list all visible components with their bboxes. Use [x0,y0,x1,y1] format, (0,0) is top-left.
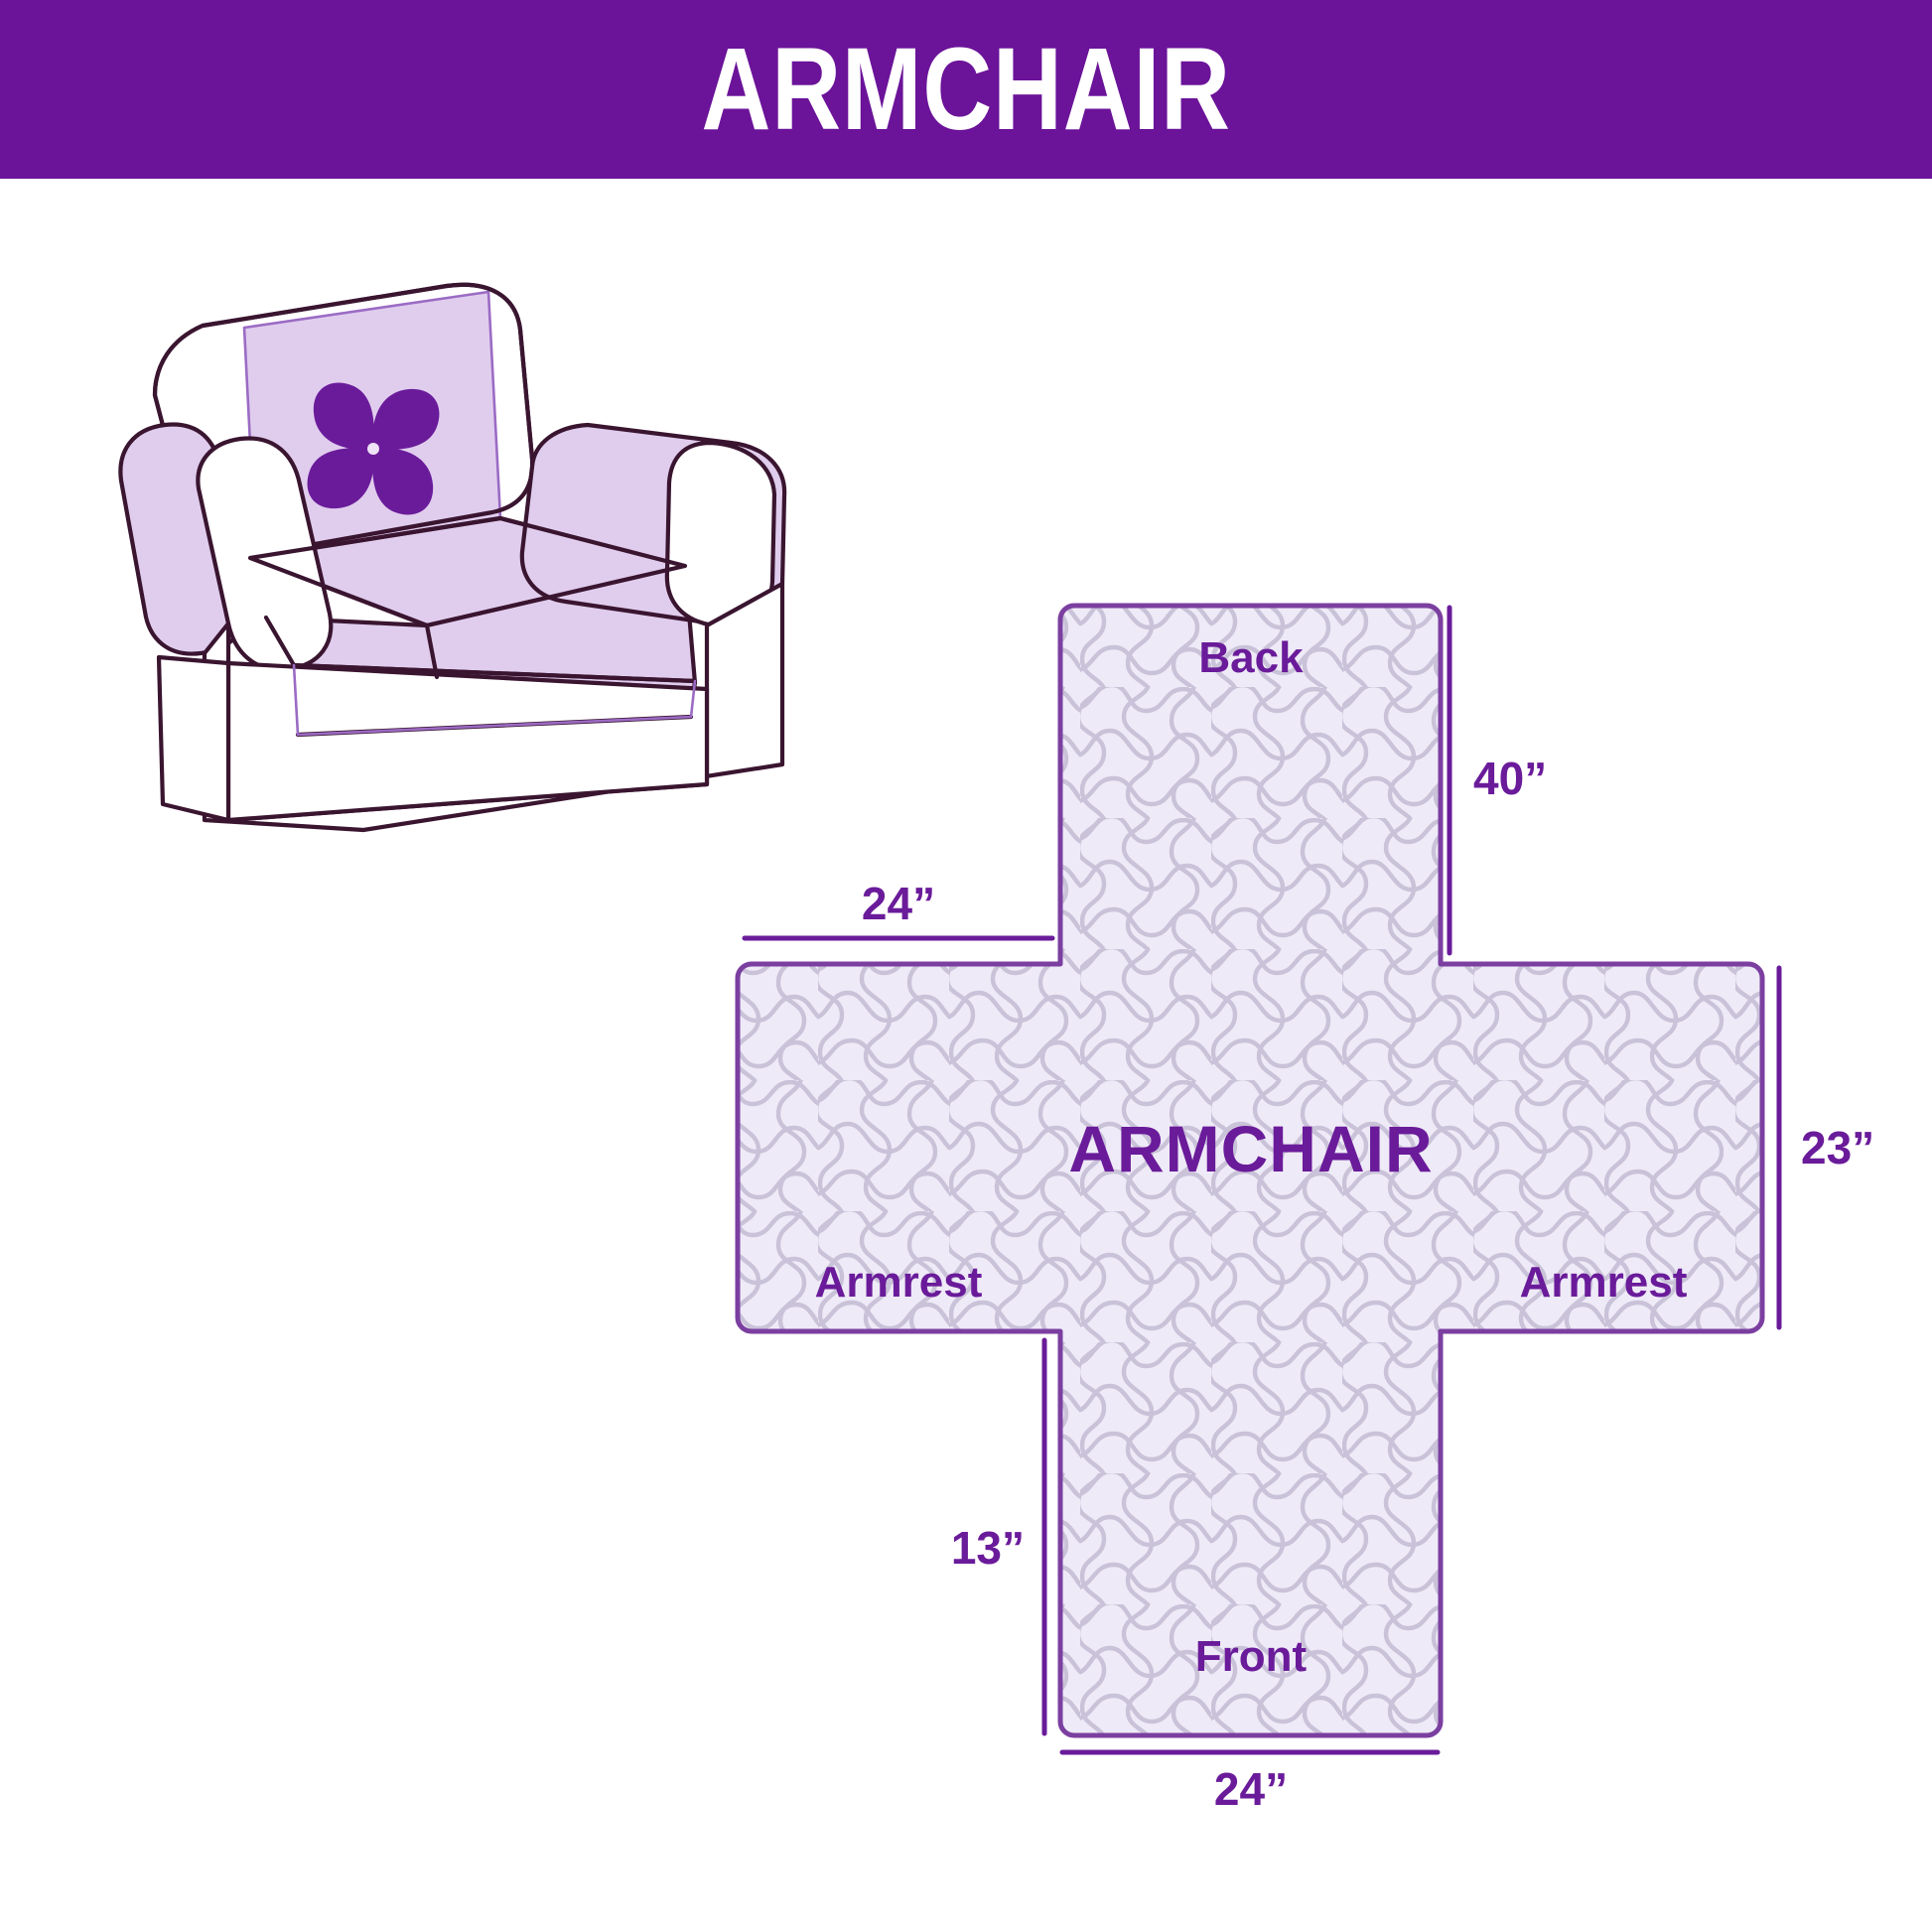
header-banner: ARMCHAIR [0,0,1932,179]
dimension-label-back-height: 40” [1473,753,1547,804]
panel-label-armrest-left: Armrest [815,1258,983,1307]
panel-label-armrest-right: Armrest [1520,1258,1688,1307]
page-root: ARMCHAIR [0,0,1932,1932]
page-title: ARMCHAIR [701,31,1230,148]
dimension-front-height: 13” [951,1340,1044,1733]
dimension-front-width: 24” [1062,1752,1438,1815]
slipcover-pattern-diagram: Back ARMCHAIR Armrest Armrest Front 40” … [556,556,1932,1847]
dimension-label-back-width: 24” [862,878,935,929]
dimension-back-width: 24” [745,878,1052,938]
dimension-label-front-width: 24” [1214,1763,1288,1815]
dimension-arm-height: 23” [1779,968,1874,1327]
dimension-label-arm-height: 23” [1801,1122,1874,1173]
chair-base-left-face [159,657,228,820]
dimension-back-height: 40” [1449,608,1547,953]
panel-label-front: Front [1195,1632,1308,1681]
panel-label-center: ARMCHAIR [1068,1112,1433,1185]
panel-label-back: Back [1198,633,1304,682]
dimension-label-front-height: 13” [951,1522,1025,1574]
